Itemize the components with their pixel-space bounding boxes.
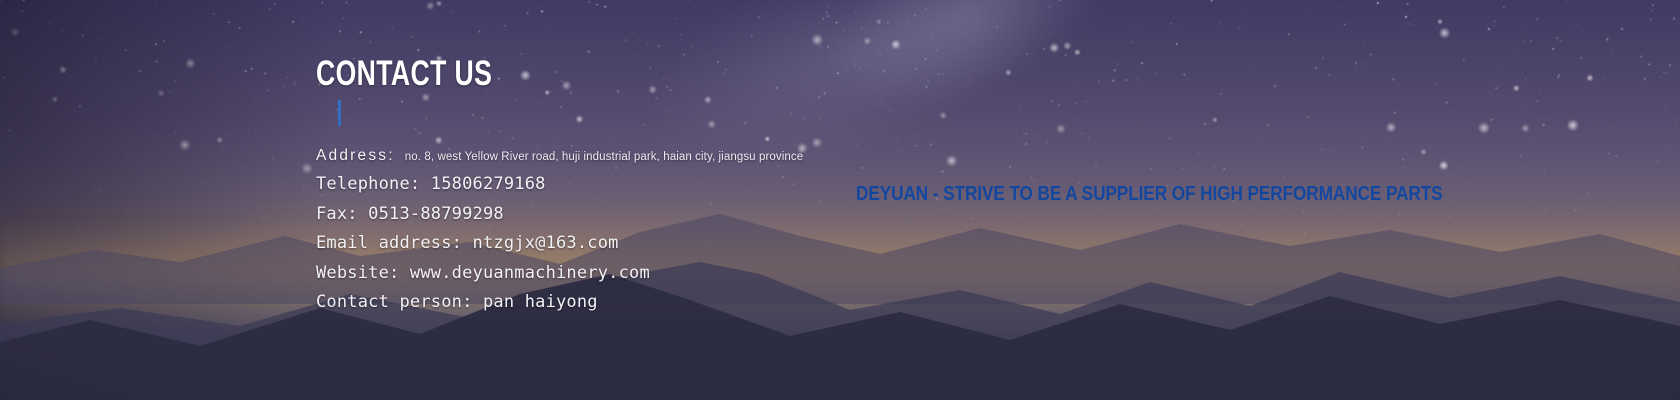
contact-website[interactable]: Website: www.deyuanmachinery.com — [316, 259, 803, 289]
company-tagline: DEYUAN - STRIVE TO BE A SUPPLIER OF HIGH… — [856, 183, 1443, 205]
contact-details-list: Address:no. 8, west Yellow River road, h… — [316, 142, 803, 318]
page-title-block: CONTACT US — [316, 56, 548, 91]
banner-content: CONTACT US Address:no. 8, west Yellow Ri… — [0, 0, 1680, 400]
contact-banner: CONTACT US Address:no. 8, west Yellow Ri… — [0, 0, 1680, 400]
contact-address-row: Address:no. 8, west Yellow River road, h… — [316, 142, 803, 170]
contact-person: Contact person: pan haiyong — [316, 288, 803, 318]
address-label: Address: — [316, 147, 395, 164]
contact-email[interactable]: Email address: ntzgjx@163.com — [316, 229, 803, 259]
title-accent-bar — [338, 100, 341, 126]
contact-telephone: Telephone: 15806279168 — [316, 170, 803, 200]
address-value: no. 8, west Yellow River road, huji indu… — [405, 151, 803, 163]
page-title: CONTACT US — [316, 56, 492, 91]
contact-fax: Fax: 0513-88799298 — [316, 200, 803, 230]
